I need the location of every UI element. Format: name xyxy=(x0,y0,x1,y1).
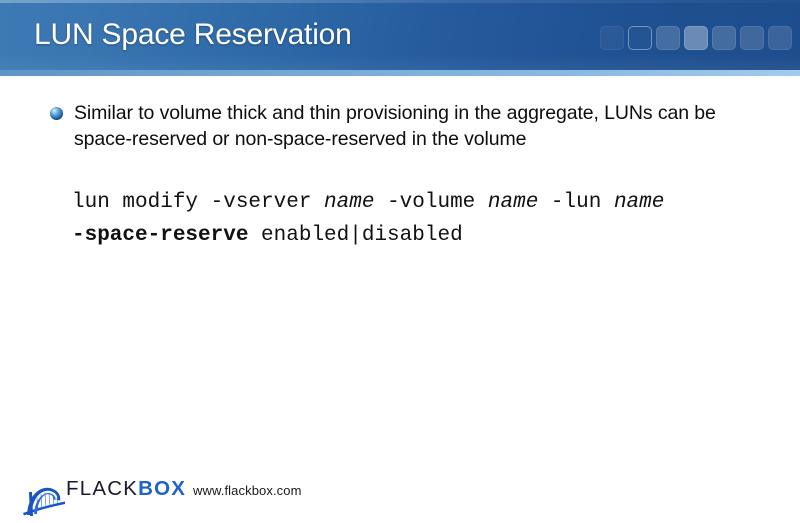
bridge-icon xyxy=(22,478,68,518)
slide-header: LUN Space Reservation xyxy=(0,0,800,70)
logo-wordmark-box: BOX xyxy=(138,477,186,500)
header-square-7 xyxy=(768,26,792,50)
logo-url-label: www.flackbox.com xyxy=(193,483,302,498)
header-square-4 xyxy=(684,26,708,50)
header-square-1 xyxy=(600,26,624,50)
logo-text-group: FLACKBOX www.flackbox.com xyxy=(66,478,302,500)
slide-body: Similar to volume thick and thin provisi… xyxy=(0,76,800,450)
command-token: lun modify -vserver xyxy=(72,191,324,214)
header-square-3 xyxy=(656,26,680,50)
bullet-item-label: Similar to volume thick and thin provisi… xyxy=(74,100,764,152)
command-code-block: lun modify -vserver name -volume name -l… xyxy=(72,186,664,252)
page-title: LUN Space Reservation xyxy=(34,14,352,56)
header-square-6 xyxy=(740,26,764,50)
command-token: -volume xyxy=(374,191,487,214)
command-token: -lun xyxy=(538,191,614,214)
command-token: name xyxy=(614,191,664,214)
logo-wordmark-flack: FLACK xyxy=(66,477,138,500)
logo-wordmark: FLACKBOX xyxy=(66,477,193,500)
flackbox-logo: FLACKBOX www.flackbox.com xyxy=(22,476,302,518)
command-token: enabled|disabled xyxy=(248,224,462,247)
header-decoration-squares xyxy=(600,26,792,50)
command-token: name xyxy=(324,191,374,214)
command-line-2: -space-reserve enabled|disabled xyxy=(72,219,664,252)
bullet-list-item: Similar to volume thick and thin provisi… xyxy=(50,100,770,152)
header-square-5 xyxy=(712,26,736,50)
command-token: name xyxy=(488,191,538,214)
command-line-1: lun modify -vserver name -volume name -l… xyxy=(72,186,664,219)
header-square-2 xyxy=(628,26,652,50)
command-token: -space-reserve xyxy=(72,224,248,247)
sphere-bullet-icon xyxy=(50,107,63,120)
